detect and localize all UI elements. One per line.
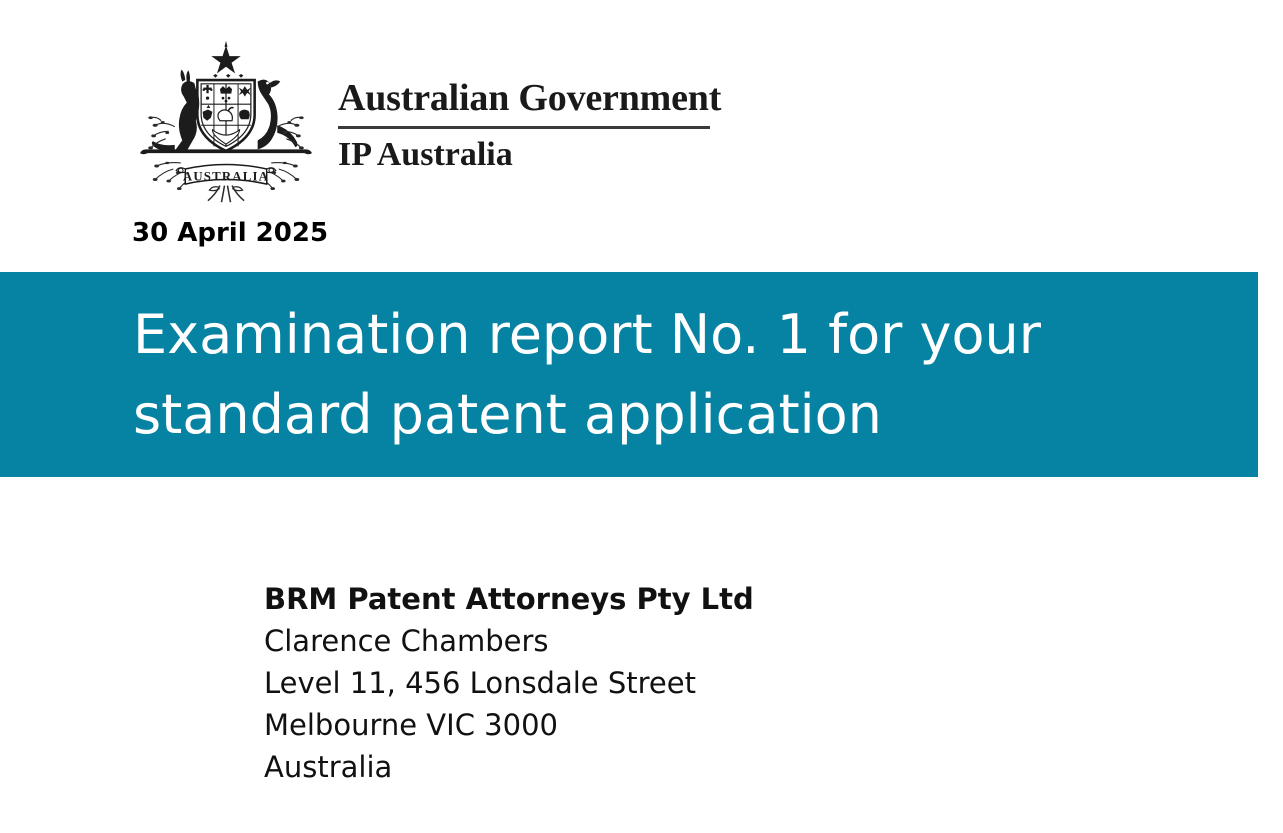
government-wordmark: Australian Government IP Australia bbox=[338, 69, 721, 172]
recipient-address-block: BRM Patent Attorneys Pty Ltd Clarence Ch… bbox=[264, 578, 754, 788]
letterhead: AUSTRALIA Australian Government IP Austr… bbox=[128, 36, 721, 204]
address-line-3: Melbourne VIC 3000 bbox=[264, 704, 754, 746]
wordmark-divider bbox=[338, 126, 710, 129]
crest-scroll-text: AUSTRALIA bbox=[183, 169, 269, 183]
recipient-name: BRM Patent Attorneys Pty Ltd bbox=[264, 578, 754, 620]
australian-coat-of-arms-icon: AUSTRALIA bbox=[128, 36, 324, 204]
organisation-name: Australian Government bbox=[338, 79, 721, 117]
address-line-2: Level 11, 456 Lonsdale Street bbox=[264, 662, 754, 704]
document-date: 30 April 2025 bbox=[132, 218, 328, 249]
address-line-4: Australia bbox=[264, 746, 754, 788]
title-banner: Examination report No. 1 for your standa… bbox=[0, 272, 1258, 477]
page-title: Examination report No. 1 for your standa… bbox=[133, 295, 1093, 455]
address-line-1: Clarence Chambers bbox=[264, 620, 754, 662]
agency-name: IP Australia bbox=[338, 138, 721, 172]
